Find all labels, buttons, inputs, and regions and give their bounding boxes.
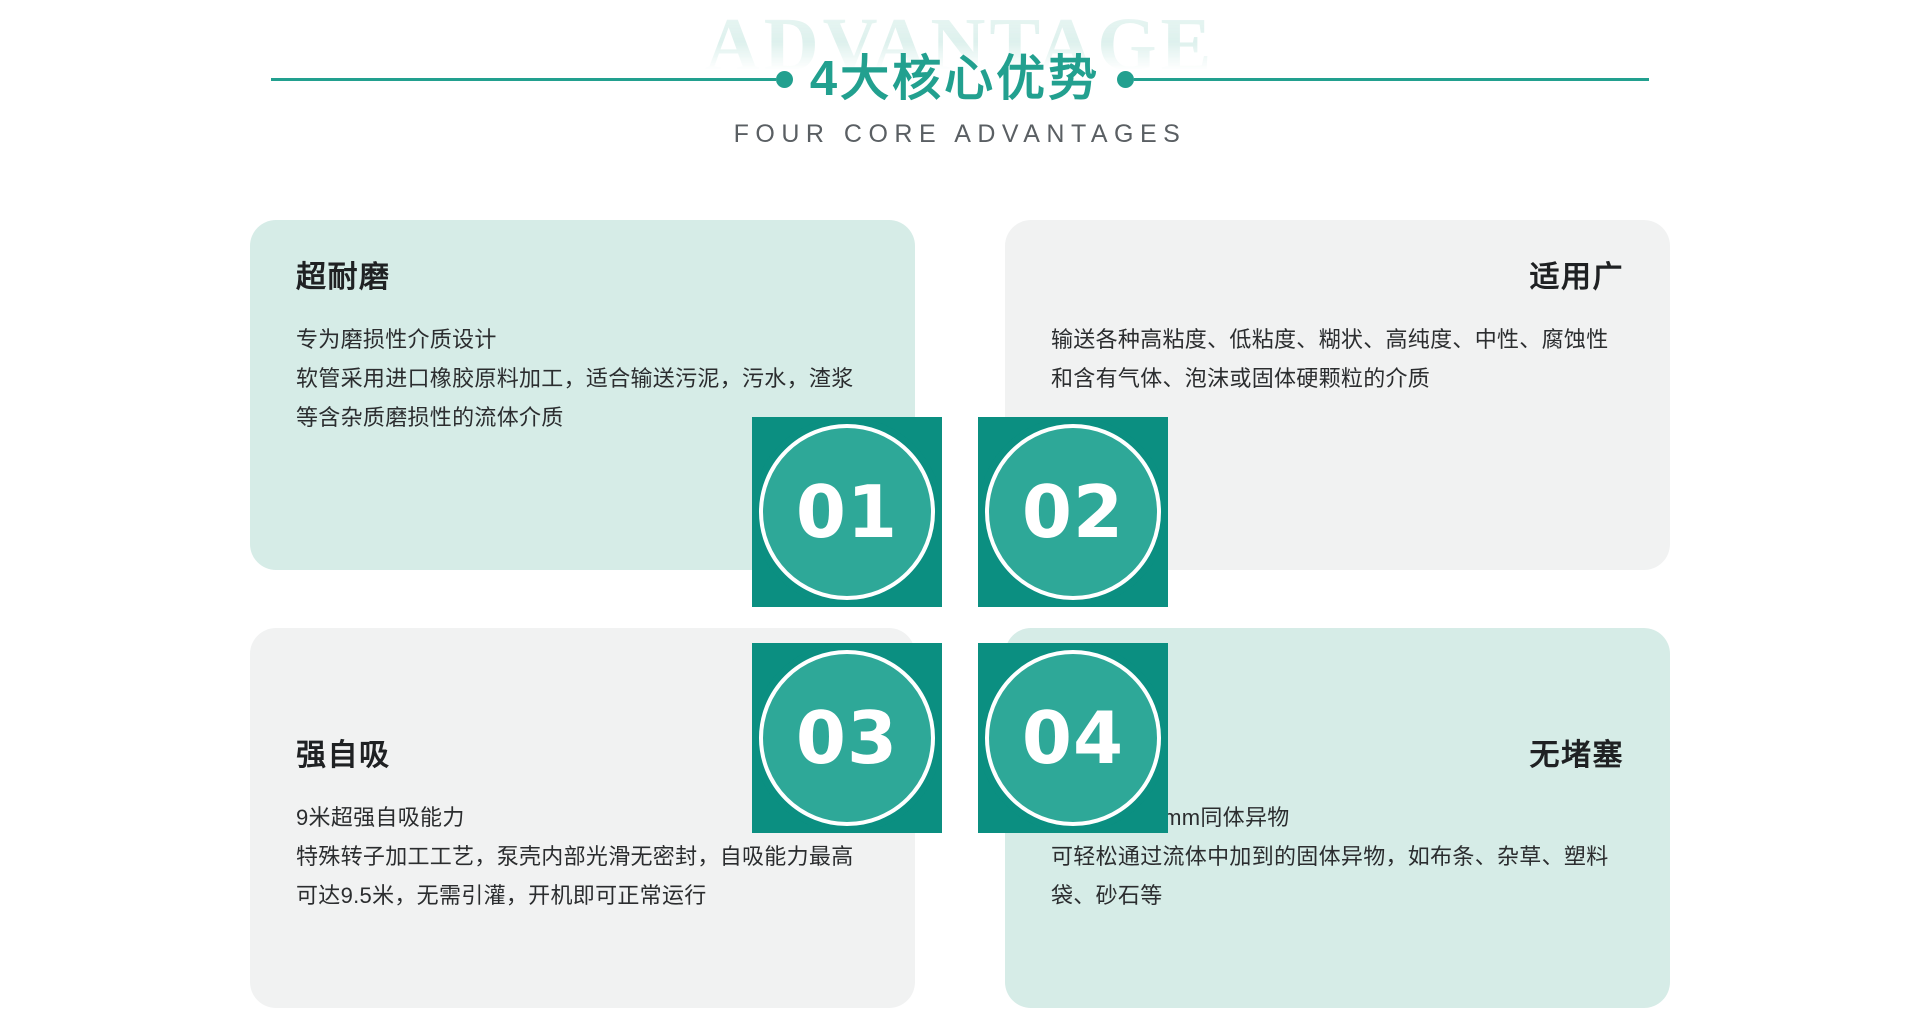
page-title: 4大核心优势 <box>793 55 1117 104</box>
advantage-badge-01[interactable]: 01 <box>752 417 942 607</box>
title-rule-left <box>271 78 776 81</box>
advantage-badge-02-disc: 02 <box>985 424 1161 600</box>
advantage-card-02-line-1: 输送各种高粘度、低粘度、糊状、高纯度、中性、腐蚀性和含有气体、泡沫或固体硬颗粒的… <box>1051 320 1624 398</box>
page-header: ADVANTAGE 4大核心优势 FOUR CORE ADVANTAGES <box>0 0 1920 180</box>
advantage-badge-03-number: 03 <box>796 702 898 774</box>
advantage-badge-01-number: 01 <box>796 476 898 548</box>
advantage-badge-03[interactable]: 03 <box>752 643 942 833</box>
title-dot-right-icon <box>1117 71 1134 88</box>
advantage-card-04-line-2: 可轻松通过流体中加到的固体异物，如布条、杂草、塑料袋、砂石等 <box>1051 837 1624 915</box>
advantage-card-03-line-2: 特殊转子加工工艺，泵壳内部光滑无密封，自吸能力最高可达9.5米，无需引灌，开机即… <box>296 837 869 915</box>
title-rule-right <box>1134 78 1649 81</box>
advantage-number-badges: 01 02 03 04 <box>752 417 1168 833</box>
page-subtitle: FOUR CORE ADVANTAGES <box>0 120 1920 149</box>
advantage-badge-01-disc: 01 <box>759 424 935 600</box>
advantage-card-02-title: 适用广 <box>1051 260 1624 296</box>
advantage-badge-04[interactable]: 04 <box>978 643 1168 833</box>
advantage-infographic: ADVANTAGE 4大核心优势 FOUR CORE ADVANTAGES 超耐… <box>0 0 1920 1030</box>
advantage-badge-02-number: 02 <box>1022 476 1124 548</box>
title-row: 4大核心优势 <box>0 44 1920 114</box>
title-dot-left-icon <box>776 71 793 88</box>
advantage-card-02-body: 输送各种高粘度、低粘度、糊状、高纯度、中性、腐蚀性和含有气体、泡沫或固体硬颗粒的… <box>1051 320 1624 398</box>
advantage-card-01-line-1: 专为磨损性介质设计 <box>296 320 869 359</box>
advantage-badge-03-disc: 03 <box>759 650 935 826</box>
advantage-card-01-title: 超耐磨 <box>296 260 869 296</box>
advantage-badge-04-number: 04 <box>1022 702 1124 774</box>
advantage-badge-02[interactable]: 02 <box>978 417 1168 607</box>
advantage-badge-04-disc: 04 <box>985 650 1161 826</box>
